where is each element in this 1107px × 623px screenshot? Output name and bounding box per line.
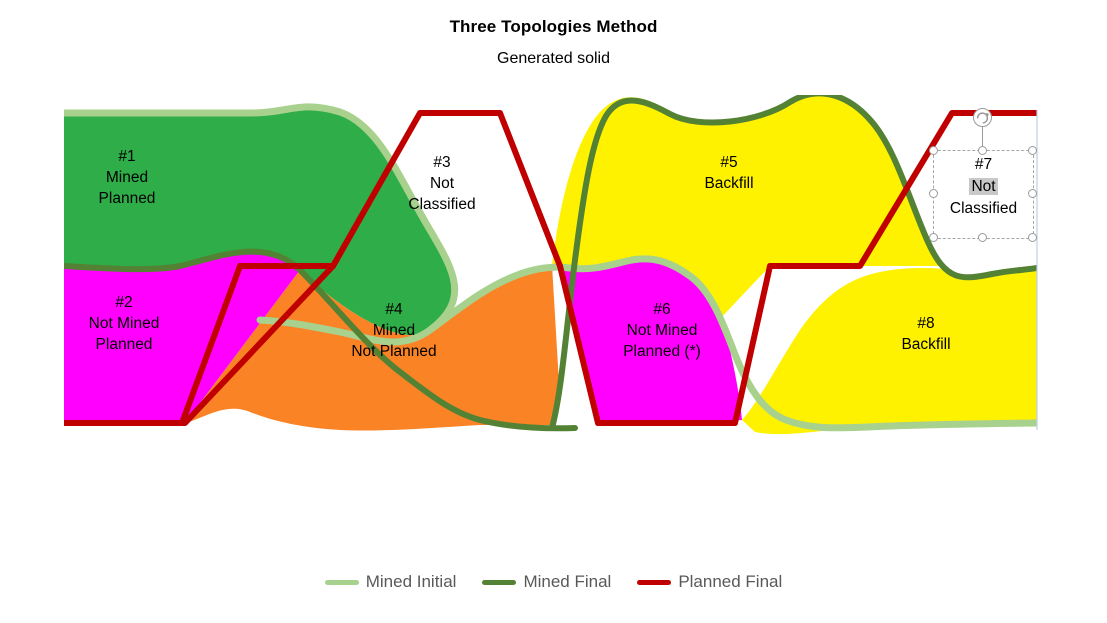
diagram-canvas: Three Topologies Method Generated solid … bbox=[0, 0, 1107, 623]
region-7-line1-highlighted[interactable]: Not bbox=[969, 178, 997, 195]
legend-item-planned-final[interactable]: Planned Final bbox=[637, 572, 782, 592]
resize-handle-bottom-right[interactable] bbox=[1028, 233, 1037, 242]
topology-cross-section bbox=[0, 0, 1107, 623]
legend-item-mined-final[interactable]: Mined Final bbox=[482, 572, 611, 592]
region-fill-8 bbox=[742, 268, 1037, 434]
legend-swatch-mined-initial bbox=[325, 580, 359, 585]
region-7-number: #7 bbox=[934, 155, 1033, 176]
chart-title: Three Topologies Method bbox=[0, 17, 1107, 37]
chart-subtitle: Generated solid bbox=[0, 50, 1107, 68]
region-7-line2: Classified bbox=[934, 199, 1033, 220]
legend-label-planned-final: Planned Final bbox=[678, 572, 782, 592]
legend-label-mined-initial: Mined Initial bbox=[366, 572, 457, 592]
legend-swatch-planned-final bbox=[637, 580, 671, 585]
resize-handle-top-left[interactable] bbox=[929, 146, 938, 155]
textbox-7-selection[interactable]: #7 Not Classified bbox=[933, 150, 1034, 239]
region-7-line1-wrap: Not bbox=[934, 177, 1033, 198]
resize-handle-middle-left[interactable] bbox=[929, 189, 938, 198]
resize-handle-bottom-left[interactable] bbox=[929, 233, 938, 242]
rotate-handle[interactable] bbox=[973, 108, 992, 127]
chart-legend: Mined Initial Mined Final Planned Final bbox=[0, 572, 1107, 592]
resize-handle-top-right[interactable] bbox=[1028, 146, 1037, 155]
resize-handle-top-center[interactable] bbox=[978, 146, 987, 155]
legend-label-mined-final: Mined Final bbox=[523, 572, 611, 592]
resize-handle-bottom-center[interactable] bbox=[978, 233, 987, 242]
resize-handle-middle-right[interactable] bbox=[1028, 189, 1037, 198]
legend-swatch-mined-final bbox=[482, 580, 516, 585]
legend-item-mined-initial[interactable]: Mined Initial bbox=[325, 572, 457, 592]
